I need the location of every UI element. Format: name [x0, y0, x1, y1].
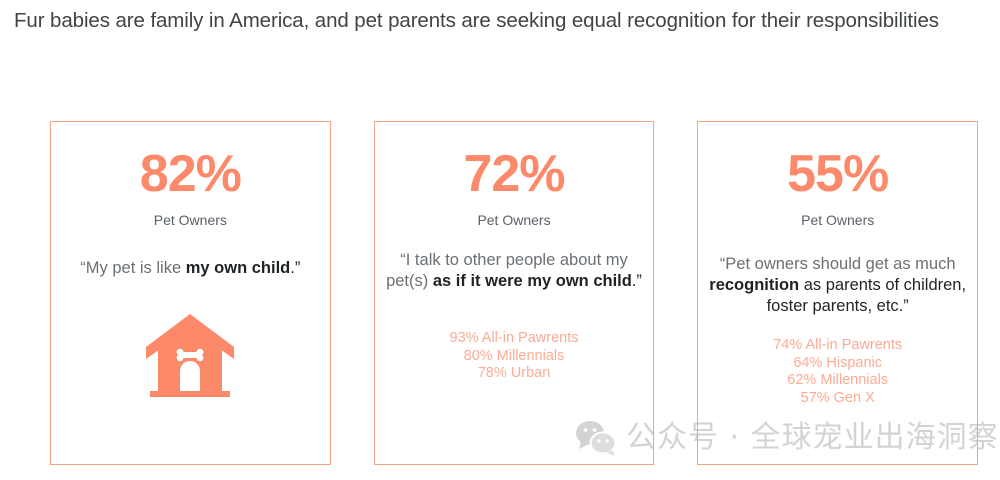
stat-card-1: 82% Pet Owners “My pet is like my own ch… — [50, 121, 331, 465]
quote-tail: .” — [290, 259, 300, 277]
stat-quote: “Pet owners should get as much recogniti… — [698, 254, 977, 317]
stat-audience-label: Pet Owners — [154, 212, 227, 228]
stat-breakdown-list: 93% All-in Pawrents 80% Millennials 78% … — [375, 330, 654, 383]
doghouse-icon — [144, 309, 236, 401]
stat-quote: “My pet is like my own child.” — [51, 258, 330, 279]
stat-card-2: 72% Pet Owners “I talk to other people a… — [374, 121, 655, 465]
quote-tail: .” — [632, 272, 642, 290]
stat-breakdown-item: 62% Millennials — [698, 372, 977, 390]
stat-audience-label: Pet Owners — [477, 212, 550, 228]
stat-breakdown-item: 78% Urban — [375, 365, 654, 383]
stat-percent: 55% — [787, 148, 888, 200]
stat-breakdown-item: 57% Gen X — [698, 390, 977, 408]
quote-emphasis: my own child — [186, 259, 291, 277]
quote-emphasis: as if it were my own child — [433, 272, 632, 290]
stat-quote: “I talk to other people about my pet(s) … — [375, 250, 654, 292]
stat-breakdown-item: 74% All-in Pawrents — [698, 337, 977, 355]
quote-lead: “Pet owners should get as much — [720, 255, 956, 273]
stat-audience-label: Pet Owners — [801, 212, 874, 228]
stat-breakdown-item: 80% Millennials — [375, 348, 654, 366]
stat-percent: 72% — [463, 148, 564, 200]
stat-percent: 82% — [140, 148, 241, 200]
stat-card-group: 82% Pet Owners “My pet is like my own ch… — [50, 121, 978, 465]
stat-card-3: 55% Pet Owners “Pet owners should get as… — [697, 121, 978, 465]
quote-lead: “My pet is like — [80, 259, 181, 277]
quote-emphasis: recognition — [709, 276, 799, 294]
page-title: Fur babies are family in America, and pe… — [14, 6, 974, 36]
stat-breakdown-item: 64% Hispanic — [698, 355, 977, 373]
doghouse-icon-wrapper — [144, 309, 236, 406]
stat-breakdown-item: 93% All-in Pawrents — [375, 330, 654, 348]
stat-breakdown-list: 74% All-in Pawrents 64% Hispanic 62% Mil… — [698, 337, 977, 407]
